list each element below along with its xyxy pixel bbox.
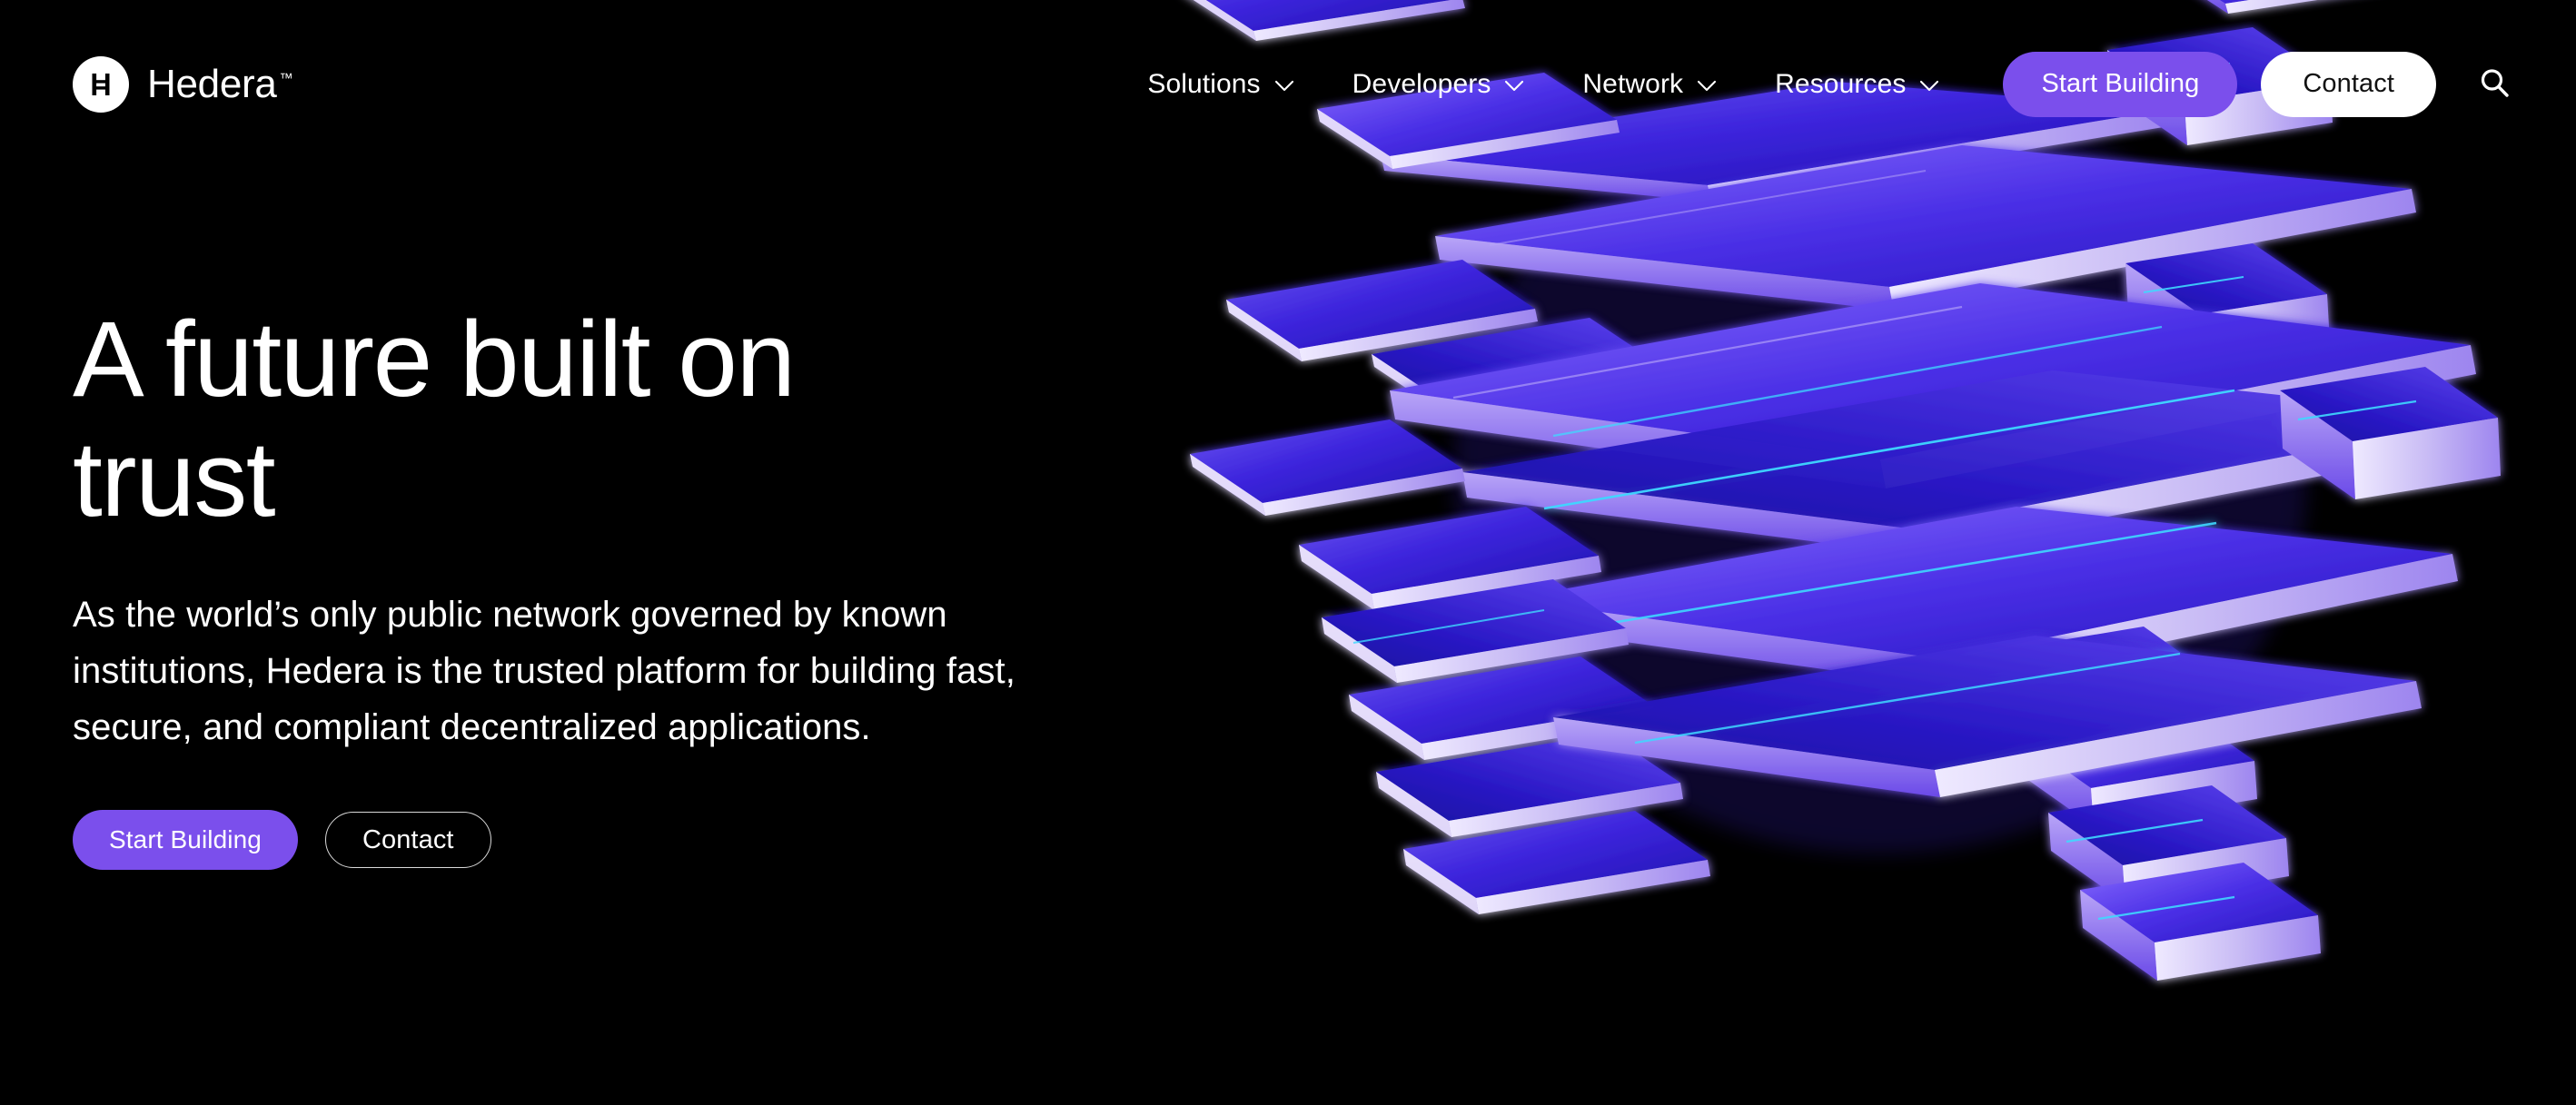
chevron-down-icon [1919, 69, 1939, 100]
hero-subtitle: As the world’s only public network gover… [73, 587, 1135, 755]
brand-logo[interactable]: Hedera™ [73, 56, 292, 113]
nav-item-label: Resources [1775, 69, 1906, 100]
main-navigation: Solutions Developers Network Resources [1118, 69, 1968, 100]
brand-name-text: Hedera [147, 62, 277, 106]
site-header: Hedera™ Solutions Developers Network [0, 0, 2576, 168]
hedera-h-icon [73, 56, 129, 113]
header-actions: Start Building Contact [2003, 52, 2520, 117]
nav-item-label: Network [1582, 69, 1683, 100]
hero-section: A future built on trust As the world’s o… [73, 300, 1199, 870]
nav-item-solutions[interactable]: Solutions [1118, 69, 1323, 100]
trademark-symbol: ™ [280, 71, 293, 86]
nav-item-resources[interactable]: Resources [1746, 69, 1968, 100]
nav-item-developers[interactable]: Developers [1323, 69, 1554, 100]
hero-contact-button[interactable]: Contact [325, 812, 491, 868]
page-root: Hedera™ Solutions Developers Network [0, 0, 2576, 1105]
hero-start-building-button[interactable]: Start Building [73, 810, 298, 870]
chevron-down-icon [1697, 69, 1717, 100]
brand-name: Hedera™ [147, 64, 292, 104]
nav-item-label: Solutions [1147, 69, 1260, 100]
hero-title: A future built on trust [73, 300, 981, 539]
chevron-down-icon [1274, 69, 1294, 100]
search-icon [2476, 64, 2512, 104]
nav-item-network[interactable]: Network [1553, 69, 1746, 100]
nav-item-label: Developers [1352, 69, 1491, 100]
header-contact-button[interactable]: Contact [2261, 52, 2436, 117]
chevron-down-icon [1504, 69, 1524, 100]
hero-cta-group: Start Building Contact [73, 810, 1199, 870]
header-start-building-button[interactable]: Start Building [2003, 52, 2237, 117]
search-button[interactable] [2469, 59, 2520, 110]
